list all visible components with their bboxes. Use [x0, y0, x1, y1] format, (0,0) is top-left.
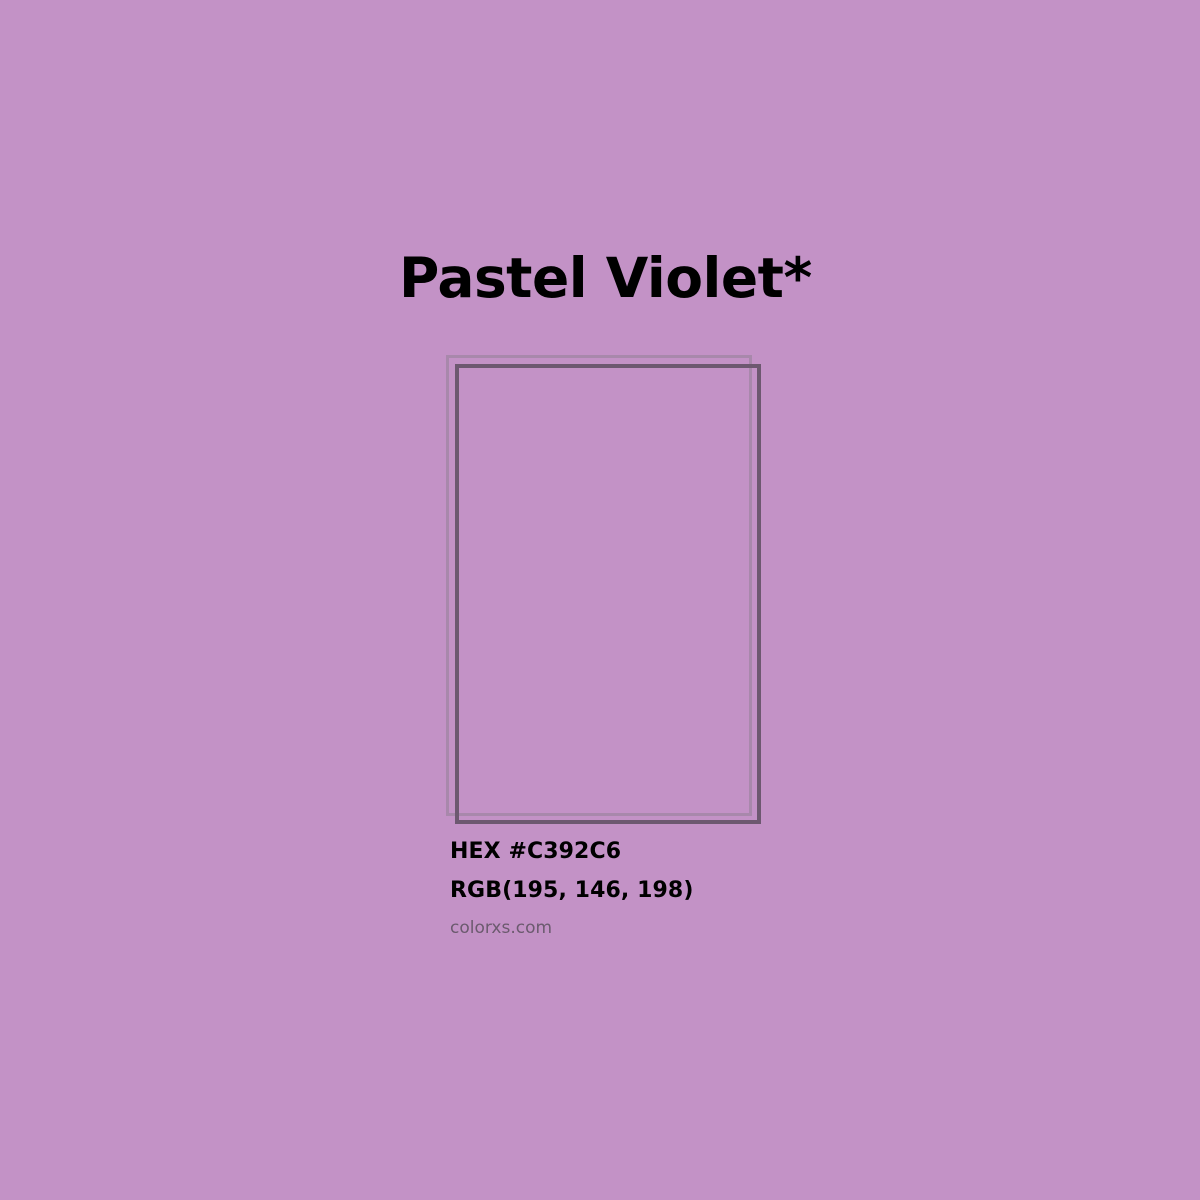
- color-swatch-page: Pastel Violet* HEX #C392C6 RGB(195, 146,…: [0, 0, 1200, 1200]
- color-swatch-preview: [0, 0, 1200, 1200]
- hex-value-label: HEX #C392C6: [450, 832, 970, 871]
- color-info-block: HEX #C392C6 RGB(195, 146, 198) colorxs.c…: [450, 832, 970, 943]
- site-watermark: colorxs.com: [450, 913, 970, 943]
- rgb-value-label: RGB(195, 146, 198): [450, 871, 970, 910]
- swatch-frame-inner: [455, 364, 761, 824]
